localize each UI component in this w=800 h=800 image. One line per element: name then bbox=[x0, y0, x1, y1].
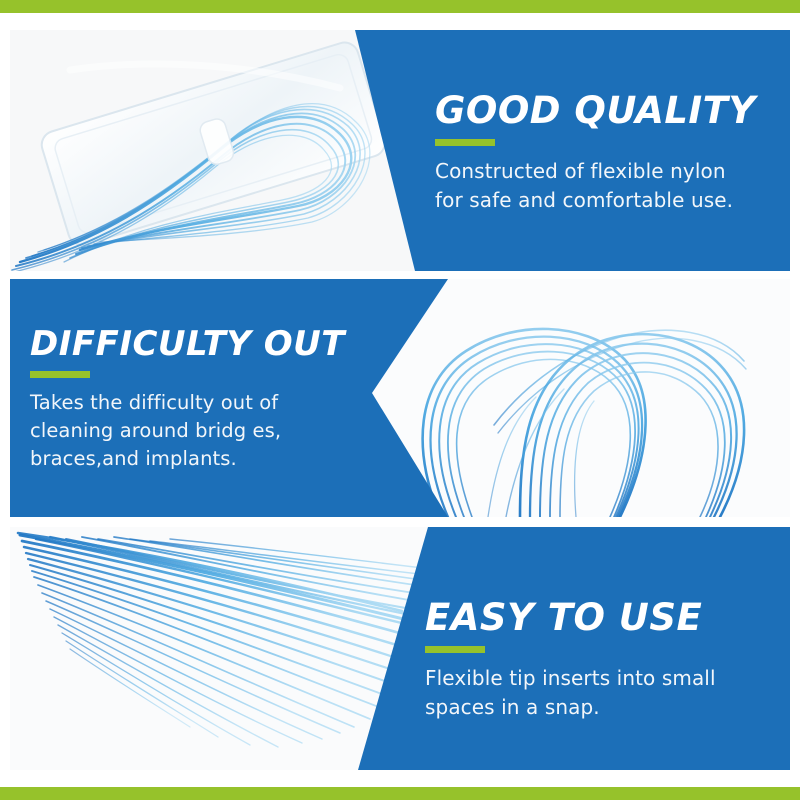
feature-panel-difficulty-out: DIFFICULTY OUT Takes the difficulty out … bbox=[10, 279, 790, 517]
panel-headline: GOOD QUALITY bbox=[435, 92, 775, 130]
panel-body-line-1: Takes the difficulty out of bbox=[30, 389, 380, 417]
bottom-border-bar bbox=[0, 787, 800, 800]
panel-body-line-2: cleaning around bridg es, bbox=[30, 417, 380, 445]
panel-body-line-1: Constructed of flexible nylon bbox=[435, 157, 775, 185]
feature-copy-good-quality: GOOD QUALITY Constructed of flexible nyl… bbox=[435, 92, 775, 214]
green-accent-rule bbox=[30, 371, 90, 378]
green-accent-rule bbox=[435, 139, 495, 146]
green-accent-rule bbox=[425, 646, 485, 653]
feature-panel-good-quality: GOOD QUALITY Constructed of flexible nyl… bbox=[10, 30, 790, 271]
panel-body-line-2: spaces in a snap. bbox=[425, 693, 770, 721]
product-feature-infographic: GOOD QUALITY Constructed of flexible nyl… bbox=[0, 0, 800, 800]
panel-body-line-2: for safe and comfortable use. bbox=[435, 186, 775, 214]
feature-copy-easy-to-use: EASY TO USE Flexible tip inserts into sm… bbox=[425, 599, 770, 721]
panel-body-line-3: braces,and implants. bbox=[30, 445, 380, 473]
panel-headline: DIFFICULTY OUT bbox=[30, 327, 380, 362]
panel-body-line-1: Flexible tip inserts into small bbox=[425, 664, 770, 692]
panel-headline: EASY TO USE bbox=[425, 599, 770, 637]
feature-copy-difficulty-out: DIFFICULTY OUT Takes the difficulty out … bbox=[30, 327, 380, 472]
top-border-bar bbox=[0, 0, 800, 13]
feature-panel-easy-to-use: EASY TO USE Flexible tip inserts into sm… bbox=[10, 527, 790, 770]
